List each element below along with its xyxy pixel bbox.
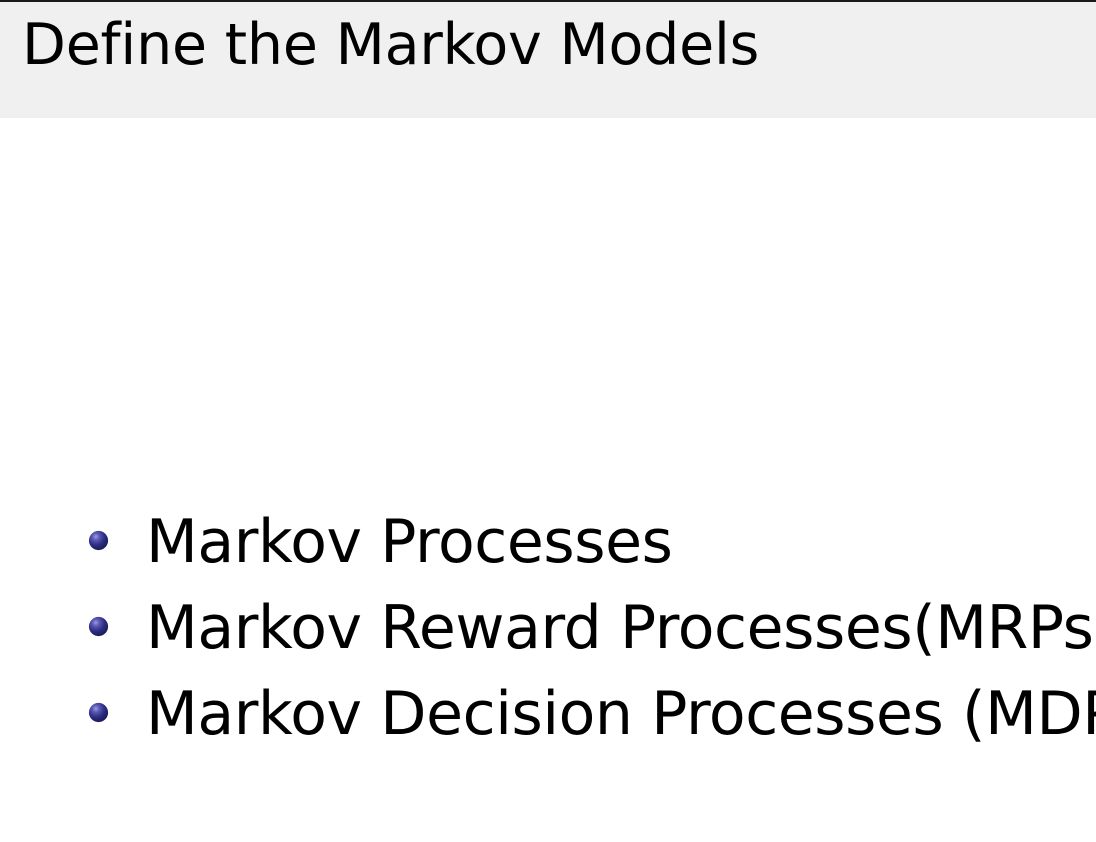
bullet-list: Markov Processes [88,512,1088,770]
list-item-label: Markov Reward Processes(MRPs) [146,598,1096,658]
list-item: Markov Decision Processes (MDPs) [88,684,1088,770]
list-item-label: Markov Decision Processes (MDPs) [146,684,1096,744]
slide-title: Define the Markov Models [22,16,759,76]
list-item: Markov Processes [88,512,1088,598]
beamer-ball-bullet-icon [88,616,109,637]
beamer-ball-bullet-icon [88,530,109,551]
slide-title-bar: Define the Markov Models [0,2,1096,118]
beamer-ball-bullet-icon [88,702,109,723]
list-item-label: Markov Processes [146,512,672,572]
presentation-slide: Define the Markov Models [0,0,1096,842]
slide-content: Markov Processes [0,118,1096,842]
list-item: Markov Reward Processes(MRPs) [88,598,1088,684]
